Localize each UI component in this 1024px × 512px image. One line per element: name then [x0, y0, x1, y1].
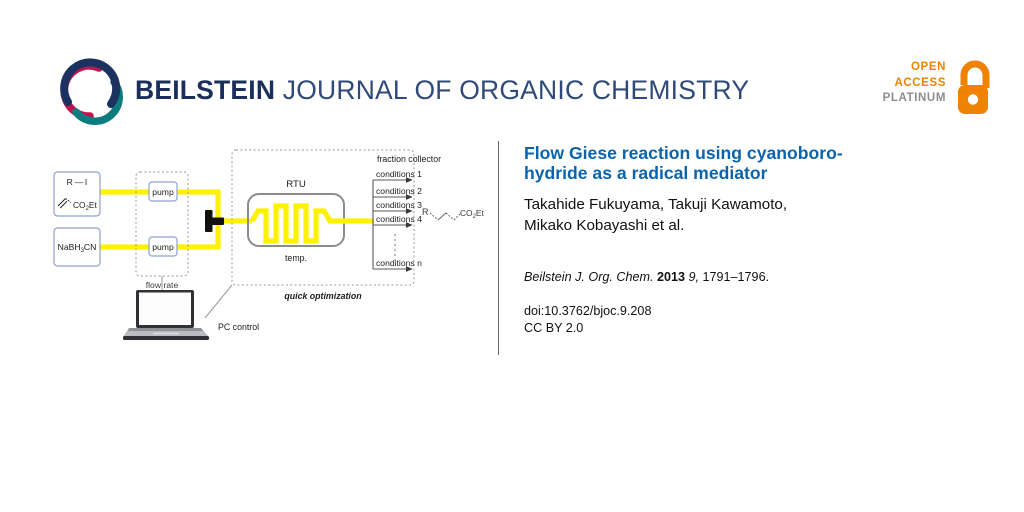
journal-wordmark: BEILSTEIN JOURNAL OF ORGANIC CHEMISTRY [135, 75, 749, 106]
article-citation: Beilstein J. Org. Chem. 2013 9, 1791–179… [524, 270, 944, 284]
article-title-line-2: hydride as a radical mediator [524, 163, 767, 183]
article-doi-block: doi:10.3762/bjoc.9.208 CC BY 2.0 [524, 303, 944, 337]
condition-label-4: conditions 4 [376, 214, 422, 224]
giese-product-structure: R CO2Et [422, 207, 484, 220]
oa-line-platinum: PLATINUM [883, 91, 946, 107]
condition-label-2: conditions 2 [376, 186, 422, 196]
article-info: Flow Giese reaction using cyanoboro- hyd… [524, 143, 944, 337]
fraction-collector-label: fraction collector [377, 154, 441, 164]
authors-line-1: Takahide Fukuyama, Takuji Kawamoto, [524, 196, 787, 213]
fraction-collector: fraction collector conditions 1 conditio… [373, 154, 441, 269]
condition-label-1: conditions 1 [376, 169, 422, 179]
open-access-text: OPEN ACCESS PLATINUM [883, 60, 946, 107]
pc-control-label: PC control [218, 322, 259, 332]
rtu-label: RTU [286, 179, 306, 190]
reagent-1-label-top: R — I [67, 177, 88, 187]
wordmark-light: JOURNAL OF ORGANIC CHEMISTRY [283, 75, 749, 105]
reagent-box-iodide: R — I CO2Et [54, 172, 100, 216]
condition-label-n: conditions n [376, 258, 422, 268]
pump-1: pump [149, 182, 177, 201]
authors-line-2: Mikako Kobayashi et al. [524, 217, 684, 234]
open-access-badge: OPEN ACCESS PLATINUM [872, 58, 996, 120]
reagent-box-cyanoborohydride: NaBH3CN [54, 228, 100, 266]
pump-2: pump [149, 237, 177, 256]
cover-page: BEILSTEIN JOURNAL OF ORGANIC CHEMISTRY O… [0, 0, 1024, 512]
article-doi[interactable]: doi:10.3762/bjoc.9.208 [524, 304, 651, 318]
pump-2-label: pump [152, 242, 174, 252]
open-padlock-icon [950, 58, 996, 118]
condition-label-3: conditions 3 [376, 200, 422, 210]
citation-volume: 9, [689, 270, 700, 284]
laptop-computer-icon [123, 290, 215, 342]
rtu-temp-label: temp. [285, 253, 307, 263]
article-title-line-1: Flow Giese reaction using cyanoboro- [524, 143, 843, 163]
product-label-ester: CO2Et [460, 208, 484, 220]
article-license[interactable]: CC BY 2.0 [524, 321, 583, 335]
citation-pages: 1791–1796. [703, 270, 770, 284]
quick-optimization-label: quick optimization [284, 291, 361, 301]
oa-line-access: ACCESS [883, 76, 946, 92]
oa-line-open: OPEN [883, 60, 946, 76]
citation-journal: Beilstein J. Org. Chem. [524, 270, 653, 284]
article-title: Flow Giese reaction using cyanoboro- hyd… [524, 143, 944, 183]
t-mixer-junction [205, 210, 224, 232]
article-authors: Takahide Fukuyama, Takuji Kawamoto, Mika… [524, 195, 944, 236]
product-label-r: R [422, 207, 429, 217]
citation-year: 2013 [657, 270, 685, 284]
wordmark-bold: BEILSTEIN [135, 75, 275, 105]
masthead: BEILSTEIN JOURNAL OF ORGANIC CHEMISTRY [52, 55, 652, 125]
pump-1-label: pump [152, 187, 174, 197]
beilstein-spiral-logo [52, 55, 124, 125]
flow-chemistry-diagram: flow rate quick optimization R — I CO2Et [40, 140, 500, 360]
